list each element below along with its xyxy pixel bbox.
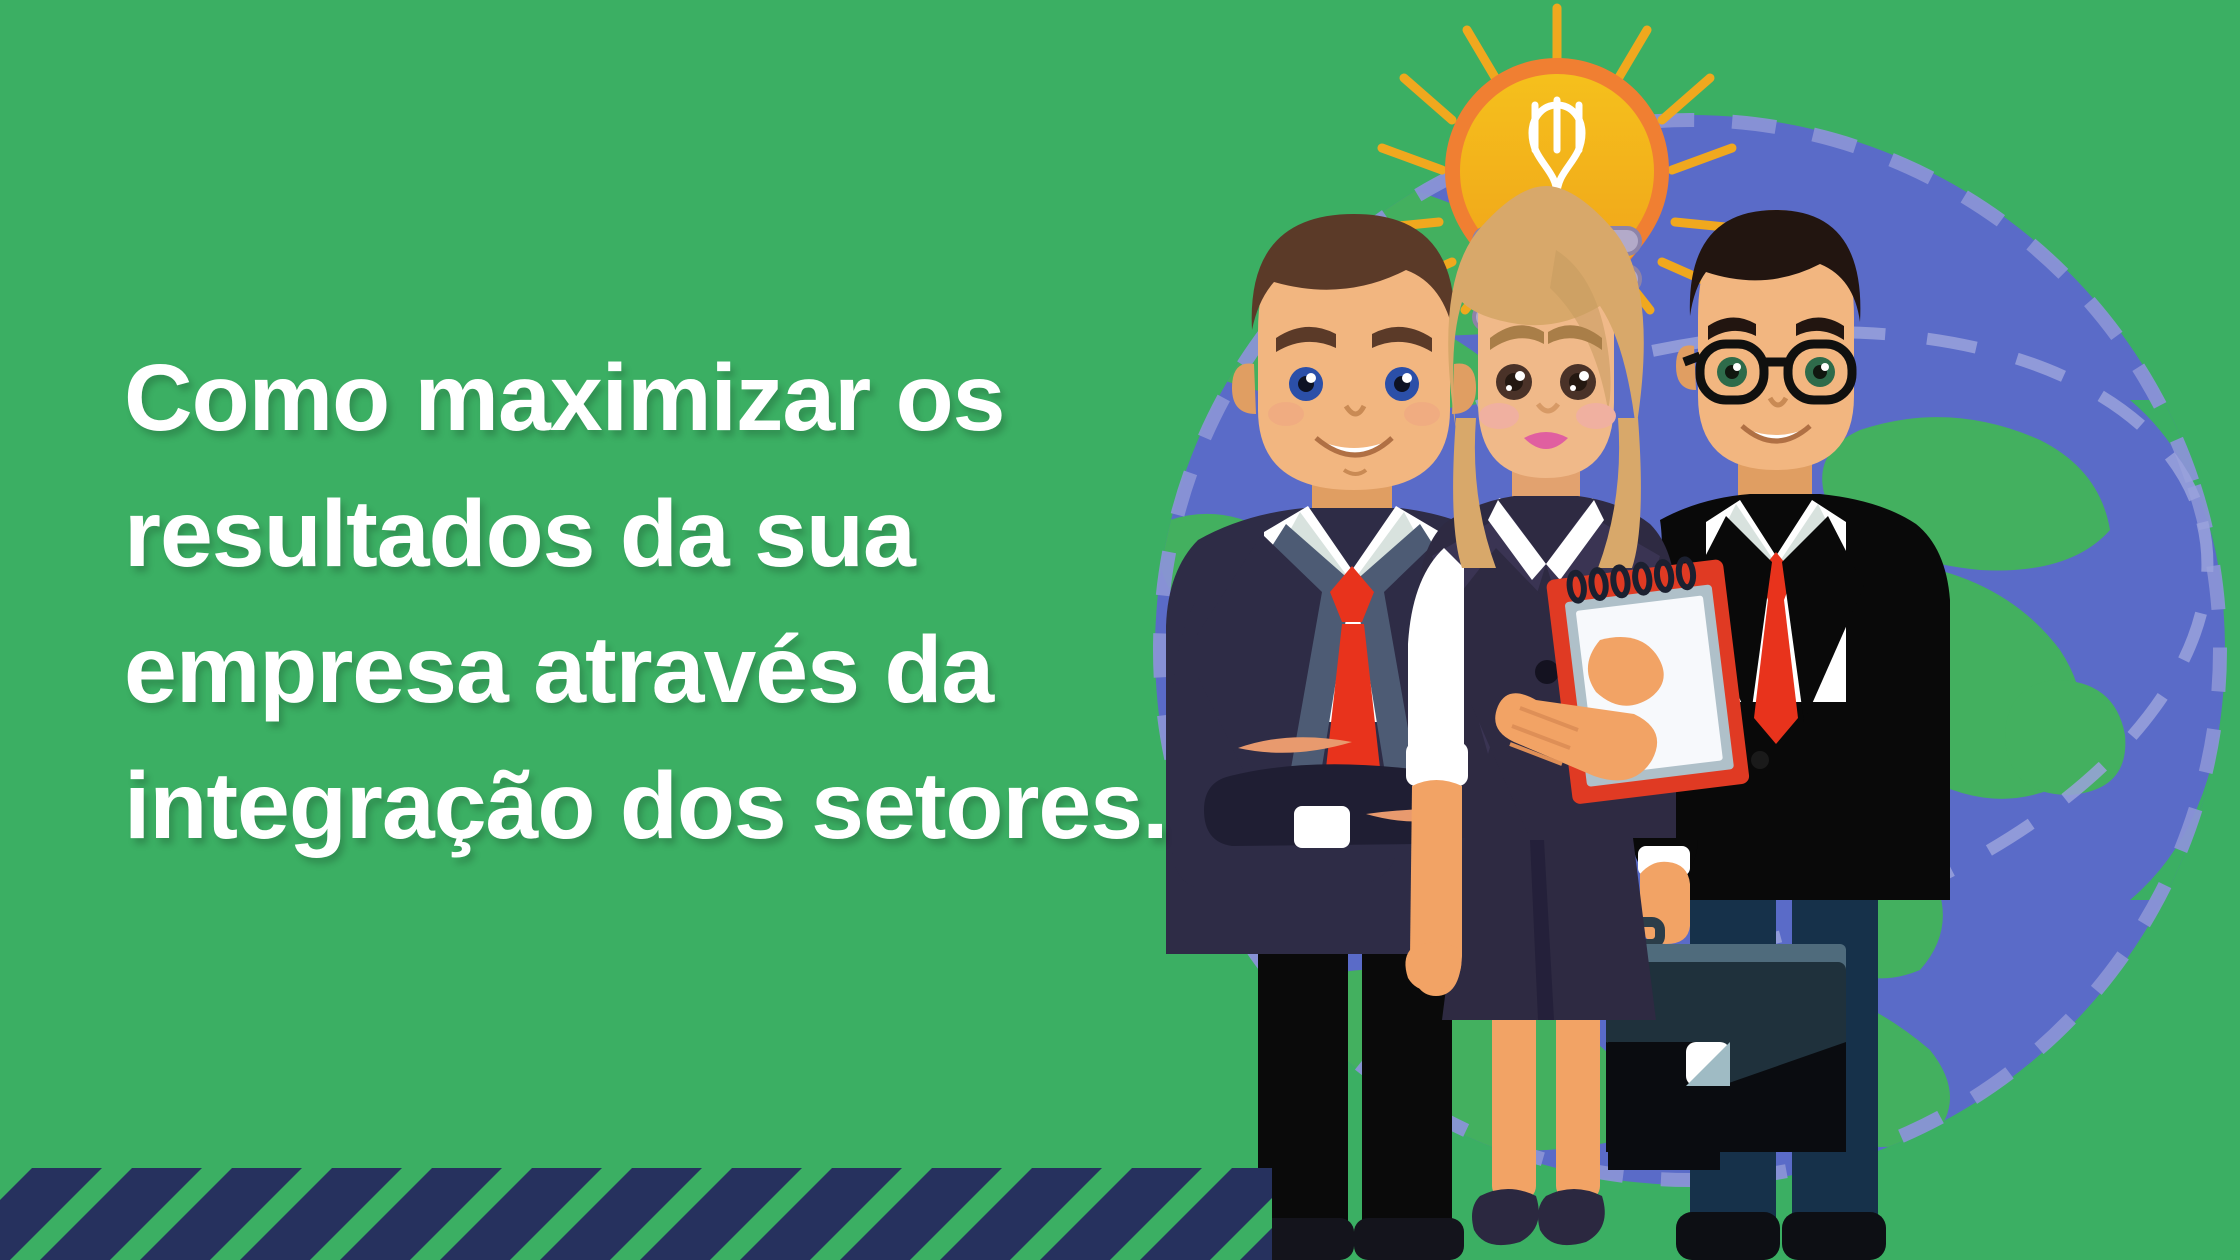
- woman-leg-right: [1556, 1000, 1600, 1200]
- headline-line-4: integração dos setores.: [124, 738, 1124, 874]
- woman-blush-left: [1479, 403, 1519, 429]
- diagonal-stripe-band: [0, 1168, 1402, 1260]
- headline-line-3: empresa através da: [124, 602, 1124, 738]
- slide-canvas: Como maximizar os resultados da sua empr…: [0, 0, 2240, 1260]
- left-man-cuff: [1294, 806, 1350, 848]
- headline-line-1: Como maximizar os: [124, 330, 1124, 466]
- left-man-shoe-right: [1354, 1218, 1464, 1260]
- right-man-shoe-right: [1782, 1212, 1886, 1260]
- headline-block: Como maximizar os resultados da sua empr…: [124, 330, 1124, 874]
- headline-line-2: resultados da sua: [124, 466, 1124, 602]
- woman-blush-right: [1576, 403, 1616, 429]
- woman-leg-left: [1492, 1000, 1536, 1200]
- woman-button-top: [1535, 660, 1559, 684]
- right-man-shoe-left: [1676, 1212, 1780, 1260]
